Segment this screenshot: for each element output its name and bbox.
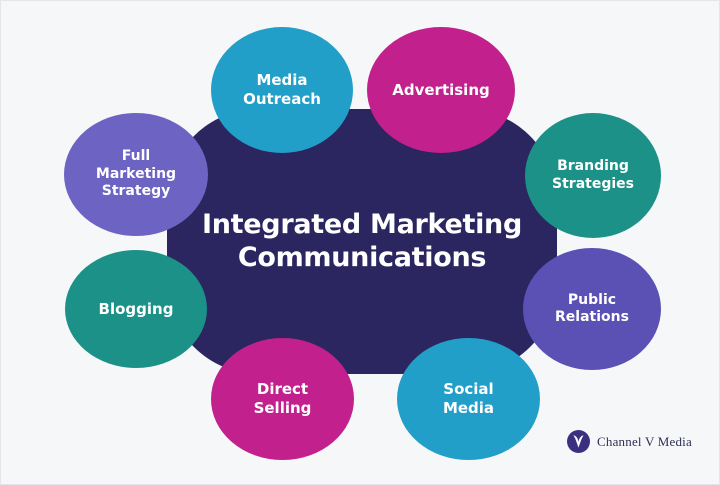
node-media-outreach-label: Media Outreach — [237, 71, 327, 109]
node-blogging[interactable]: Blogging — [65, 250, 207, 368]
node-social-media-label: Social Media — [437, 380, 500, 418]
node-branding-strategies-label: Branding Strategies — [546, 158, 640, 193]
node-advertising[interactable]: Advertising — [367, 27, 515, 153]
brand-logo: Channel V Media — [567, 430, 692, 453]
node-public-relations[interactable]: Public Relations — [523, 248, 661, 370]
node-direct-selling[interactable]: Direct Selling — [211, 338, 354, 460]
node-blogging-label: Blogging — [93, 300, 180, 319]
channel-v-mark-icon — [567, 430, 590, 453]
node-full-marketing-strategy[interactable]: Full Marketing Strategy — [64, 113, 208, 236]
diagram-canvas: Integrated Marketing Communications Medi… — [0, 0, 720, 485]
node-full-marketing-strategy-label: Full Marketing Strategy — [90, 148, 182, 201]
node-branding-strategies[interactable]: Branding Strategies — [525, 113, 661, 238]
node-social-media[interactable]: Social Media — [397, 338, 540, 460]
node-public-relations-label: Public Relations — [549, 292, 635, 327]
brand-logo-text: Channel V Media — [597, 434, 692, 450]
node-advertising-label: Advertising — [386, 81, 496, 100]
node-direct-selling-label: Direct Selling — [248, 380, 318, 418]
center-hub-label: Integrated Marketing Communications — [167, 109, 557, 374]
node-media-outreach[interactable]: Media Outreach — [211, 27, 353, 153]
center-hub: Integrated Marketing Communications — [167, 109, 557, 374]
